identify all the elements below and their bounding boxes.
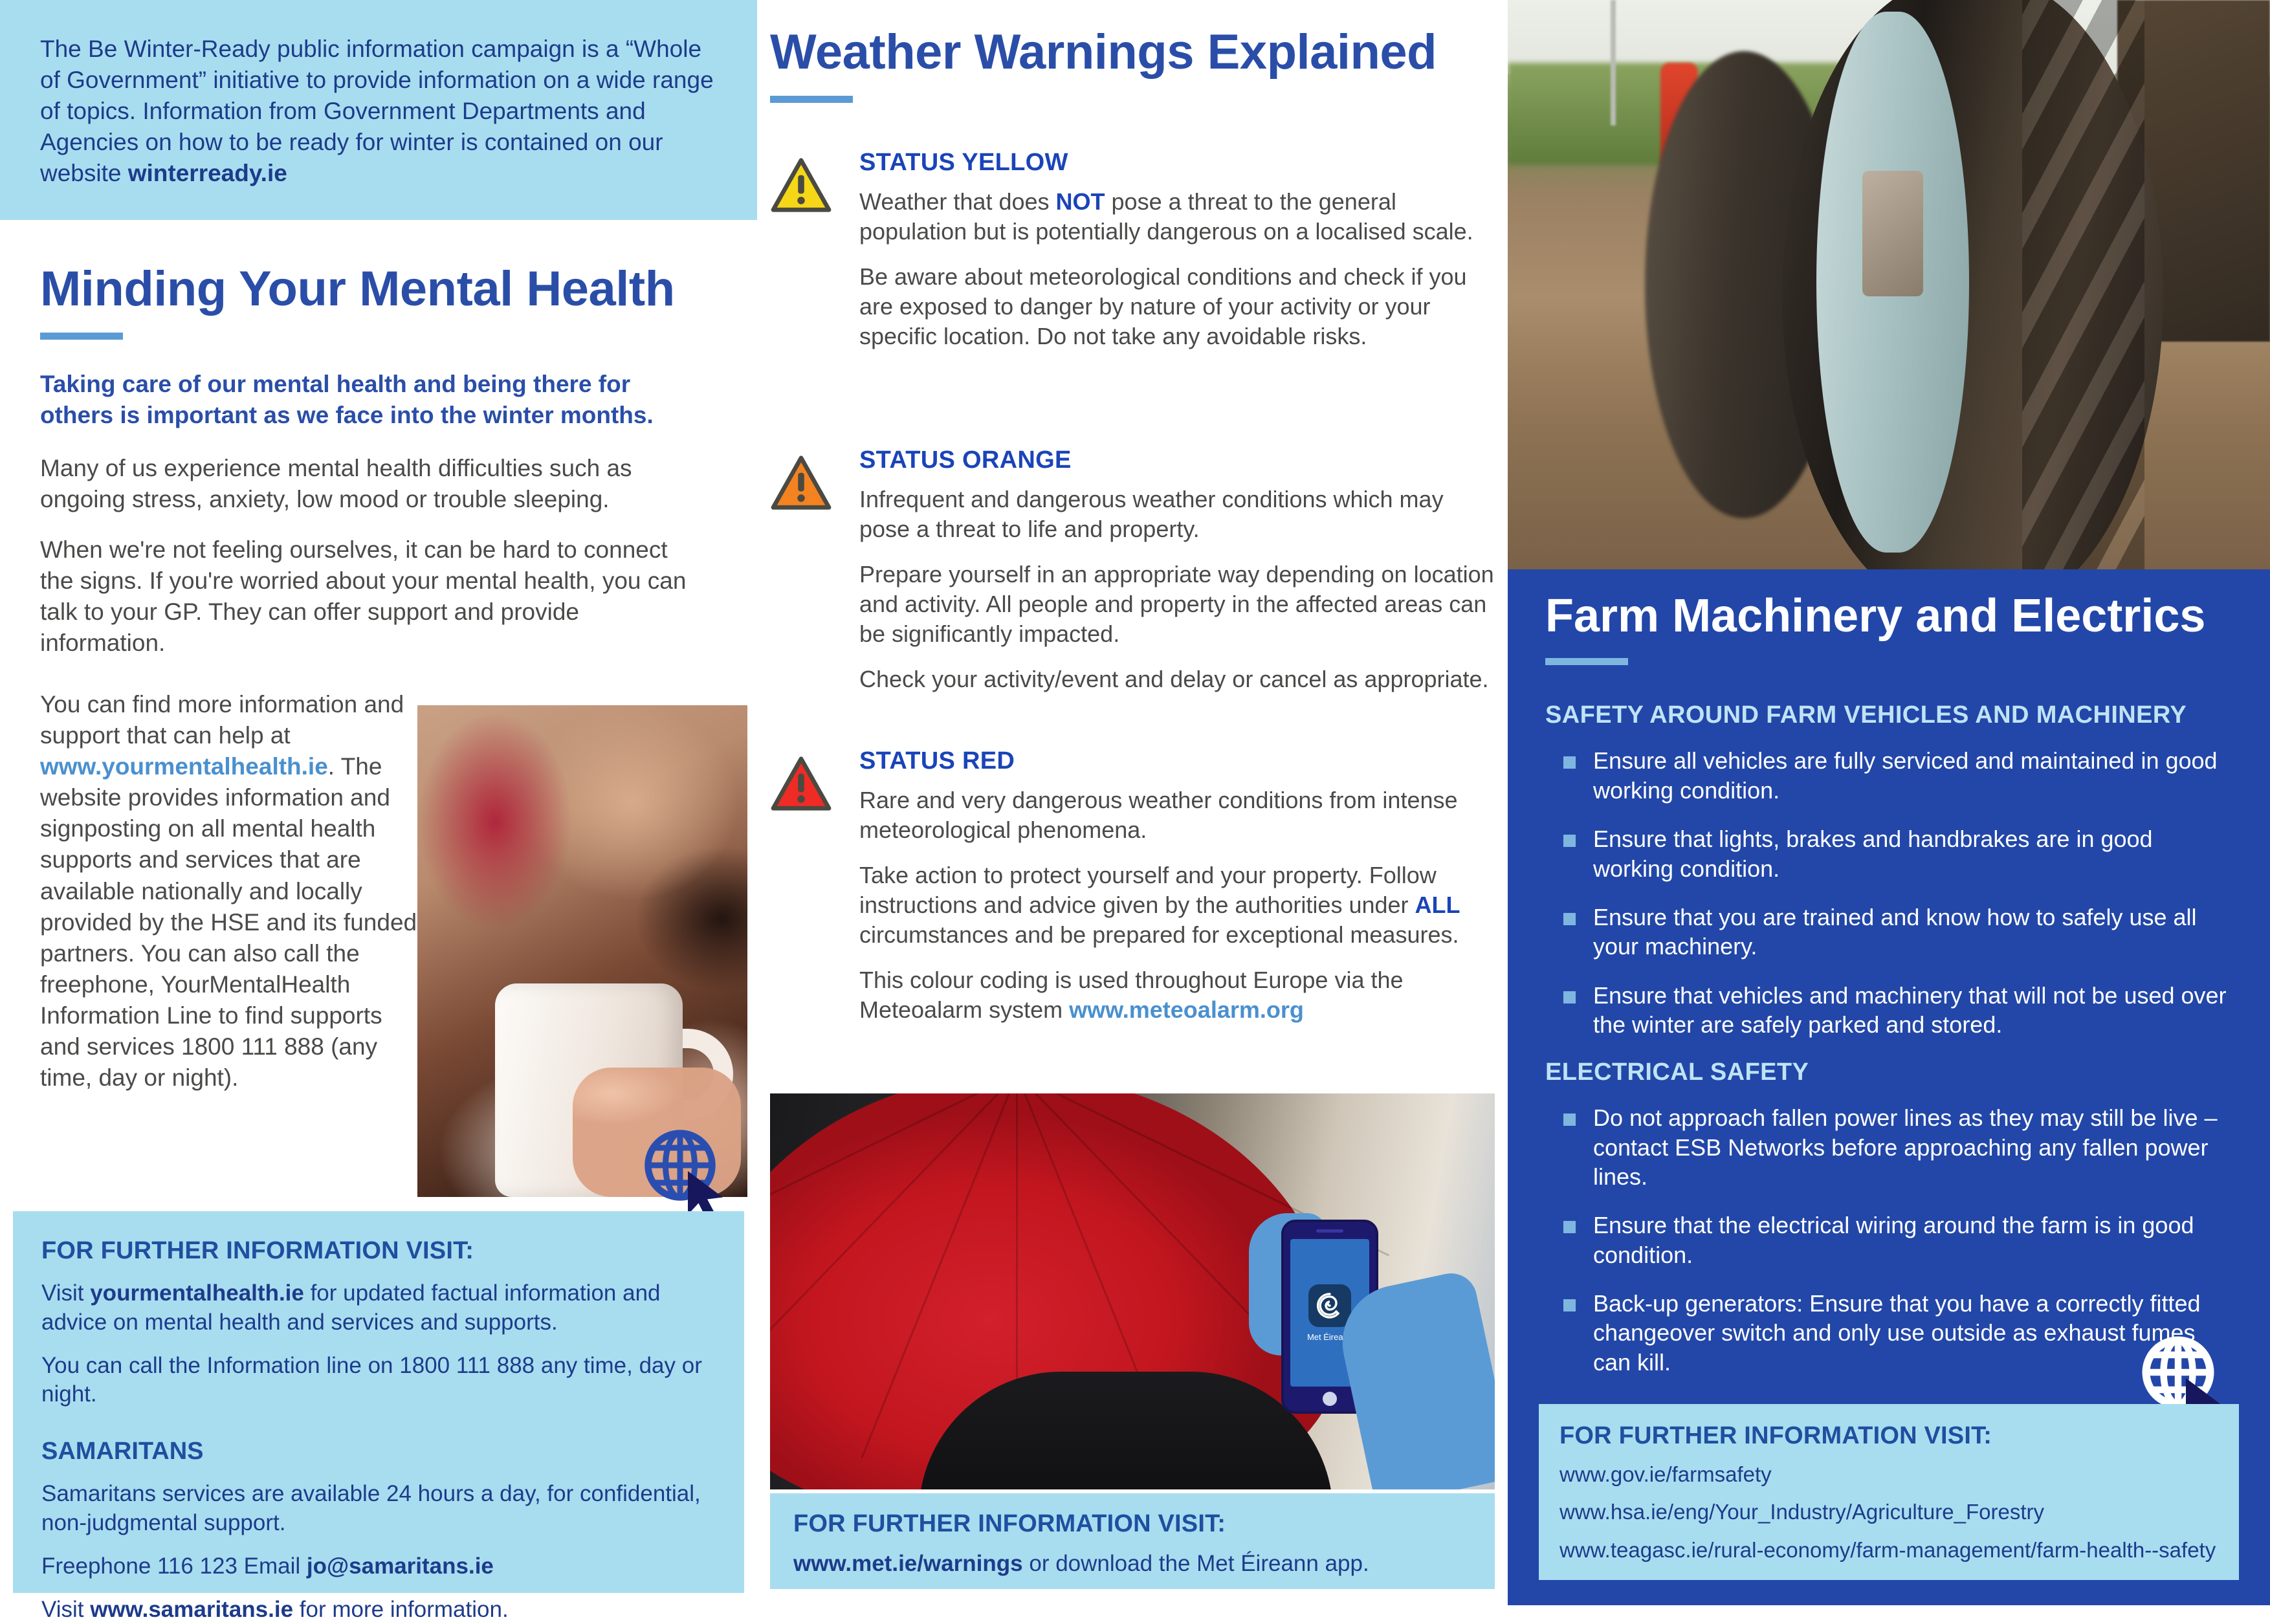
status-orange-paragraph-2: Prepare yourself in an appropriate way d…: [859, 560, 1495, 649]
status-red-paragraph-3: This colour coding is used throughout Eu…: [859, 965, 1495, 1025]
meteoalarm-link[interactable]: www.meteoalarm.org: [1069, 996, 1304, 1023]
heading-rule-weather: [770, 96, 853, 103]
warning-triangle-orange-icon: [770, 446, 832, 511]
mental-health-paragraph-2: When we're not feeling ourselves, it can…: [40, 534, 707, 659]
warning-triangle-red-icon: [770, 747, 832, 812]
sy-p1a: Weather that does: [859, 188, 1056, 215]
intro-panel: The Be Winter-Ready public information c…: [0, 0, 757, 220]
heading-rule: [40, 333, 123, 340]
farm-url-2[interactable]: www.hsa.ie/eng/Your_Industry/Agriculture…: [1559, 1499, 2217, 1525]
sr-p2a: Take action to protect yourself and your…: [859, 862, 1437, 918]
mental-health-heading-group: Minding Your Mental Health: [40, 264, 694, 340]
wheel-hub-bolts: [1862, 171, 1923, 296]
info-box-subtitle-samaritans: SAMARITANS: [41, 1438, 714, 1465]
farm-section-1-title: SAFETY AROUND FARM VEHICLES AND MACHINER…: [1545, 701, 2230, 729]
heading-rule-farm: [1545, 658, 1628, 665]
visit-prefix-2: Visit: [41, 1597, 90, 1622]
status-red-all-emphasis: ALL: [1415, 892, 1460, 918]
weather-heading-group: Weather Warnings Explained: [770, 27, 1475, 103]
flow-text-before: You can find more information and suppor…: [40, 691, 404, 749]
visit-suffix-2: for more information.: [293, 1597, 509, 1622]
list-item: Back-up generators: Ensure that you have…: [1545, 1289, 2230, 1377]
info-box-title: FOR FURTHER INFORMATION VISIT:: [41, 1237, 714, 1265]
status-red-paragraph-2: Take action to protect yourself and your…: [859, 861, 1495, 950]
winter-ready-leaflet-page: The Be Winter-Ready public information c…: [0, 0, 2270, 1605]
met-app-suffix: or download the Met Éireann app.: [1023, 1551, 1369, 1576]
info-box-paragraph-2: You can call the Information line on 180…: [41, 1352, 714, 1410]
phone-home-button: [1323, 1392, 1337, 1406]
warning-triangle-yellow-icon: [770, 149, 832, 214]
pole: [1611, 0, 1616, 126]
intro-text: The Be Winter-Ready public information c…: [40, 34, 714, 189]
status-red-paragraph-1: Rare and very dangerous weather conditio…: [859, 785, 1495, 845]
mental-health-paragraphs: Many of us experience mental health diff…: [40, 453, 707, 659]
freephone-prefix: Freephone 116 123 Email: [41, 1553, 307, 1579]
status-red-title: STATUS RED: [859, 747, 1495, 775]
info-box-title-weather: FOR FURTHER INFORMATION VISIT:: [793, 1510, 1469, 1538]
status-yellow-not-emphasis: NOT: [1056, 188, 1105, 215]
farm-url-3[interactable]: www.teagasc.ie/rural-economy/farm-manage…: [1559, 1537, 2217, 1563]
flow-text-after: . The website provides information and s…: [40, 753, 417, 1091]
page-title-farm-machinery: Farm Machinery and Electrics: [1545, 593, 2230, 640]
info-box-paragraph-3: Samaritans services are available 24 hou…: [41, 1480, 714, 1538]
page-title-weather-warnings: Weather Warnings Explained: [770, 27, 1475, 78]
tractor-wheel-photo: [1508, 0, 2270, 569]
status-yellow-paragraph-2: Be aware about meteorological conditions…: [859, 262, 1495, 351]
info-box-weather: FOR FURTHER INFORMATION VISIT: www.met.i…: [770, 1493, 1495, 1589]
status-orange-title: STATUS ORANGE: [859, 446, 1495, 474]
status-red-block: STATUS RED Rare and very dangerous weath…: [770, 747, 1495, 1026]
status-yellow-paragraph-1: Weather that does NOT pose a threat to t…: [859, 187, 1495, 247]
info-box-farm: FOR FURTHER INFORMATION VISIT: www.gov.i…: [1539, 1404, 2239, 1580]
info-box-title-farm: FOR FURTHER INFORMATION VISIT:: [1559, 1422, 2217, 1450]
farm-vehicle-safety-list: Ensure all vehicles are fully serviced a…: [1545, 746, 2230, 1039]
umbrella-rain-photo: Met Éireann: [770, 1093, 1495, 1489]
info-box-mental-health: FOR FURTHER INFORMATION VISIT: Visit you…: [13, 1211, 744, 1593]
status-orange-block: STATUS ORANGE Infrequent and dangerous w…: [770, 446, 1495, 694]
mental-health-flow-paragraph: You can find more information and suppor…: [40, 689, 422, 1093]
status-orange-paragraph-1: Infrequent and dangerous weather conditi…: [859, 485, 1495, 544]
list-item: Ensure that you are trained and know how…: [1545, 903, 2230, 961]
mental-health-lead-text: Taking care of our mental health and bei…: [40, 369, 687, 431]
mental-health-paragraph-1: Many of us experience mental health diff…: [40, 453, 707, 515]
farm-url-1[interactable]: www.gov.ie/farmsafety: [1559, 1462, 2217, 1487]
electrical-safety-list: Do not approach fallen power lines as th…: [1545, 1103, 2230, 1377]
yourmentalhealth-short-link[interactable]: yourmentalhealth.ie: [90, 1280, 304, 1306]
info-box-weather-paragraph: www.met.ie/warnings or download the Met …: [793, 1550, 1469, 1579]
page-title-mental-health: Minding Your Mental Health: [40, 264, 694, 314]
status-orange-paragraph-3: Check your activity/event and delay or c…: [859, 664, 1495, 694]
status-yellow-block: STATUS YELLOW Weather that does NOT pose…: [770, 149, 1495, 351]
phone-speaker: [1316, 1229, 1343, 1233]
samaritans-website-link[interactable]: www.samaritans.ie: [90, 1597, 293, 1622]
status-yellow-title: STATUS YELLOW: [859, 149, 1495, 177]
tyre-tread: [2022, 0, 2144, 569]
sr-p2c: circumstances and be prepared for except…: [859, 921, 1459, 948]
intro-website-link[interactable]: winterready.ie: [128, 160, 287, 186]
met-warnings-link[interactable]: www.met.ie/warnings: [793, 1551, 1023, 1576]
globe-cursor-icon: [637, 1123, 734, 1220]
list-item: Do not approach fallen power lines as th…: [1545, 1103, 2230, 1191]
mental-health-lead: Taking care of our mental health and bei…: [40, 369, 687, 431]
left-column: The Be Winter-Ready public information c…: [0, 0, 757, 1605]
list-item: Ensure that the electrical wiring around…: [1545, 1211, 2230, 1269]
list-item: Ensure all vehicles are fully serviced a…: [1545, 746, 2230, 805]
farm-section-2-title: ELECTRICAL SAFETY: [1545, 1059, 2230, 1086]
met-eireann-spiral-icon: [1308, 1284, 1351, 1327]
list-item: Ensure that lights, brakes and handbrake…: [1545, 824, 2230, 883]
info-box-paragraph-4: Freephone 116 123 Email jo@samaritans.ie: [41, 1552, 714, 1581]
info-box-paragraph-5: Visit www.samaritans.ie for more informa…: [41, 1596, 714, 1624]
list-item: Ensure that vehicles and machinery that …: [1545, 981, 2230, 1040]
samaritans-email-link[interactable]: jo@samaritans.ie: [307, 1553, 494, 1579]
info-box-paragraph-1: Visit yourmentalhealth.ie for updated fa…: [41, 1279, 714, 1337]
mental-health-flow-text: You can find more information and suppor…: [40, 689, 422, 1093]
yourmentalhealth-link[interactable]: www.yourmentalhealth.ie: [40, 753, 328, 780]
visit-prefix: Visit: [41, 1280, 90, 1306]
